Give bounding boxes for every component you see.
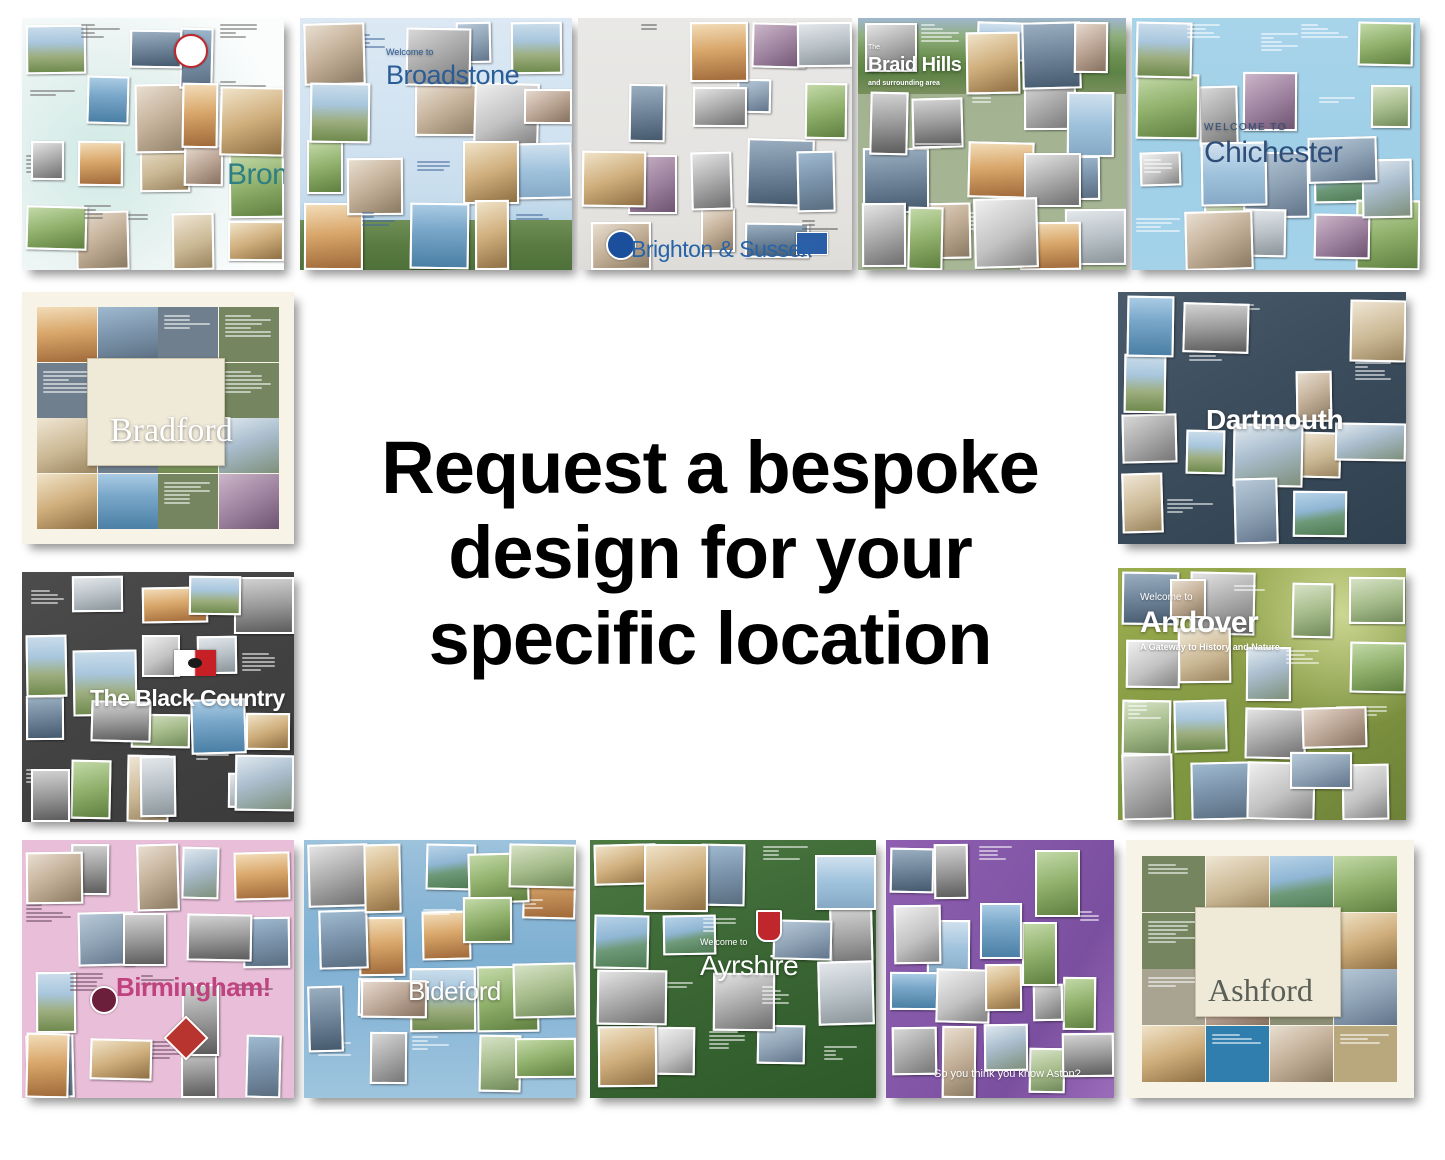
- poster-photo: [512, 962, 576, 1018]
- poster-photo: [475, 200, 509, 270]
- poster-card-ayrshire[interactable]: Welcome toAyrshire: [590, 840, 876, 1098]
- poster-photo: [690, 151, 733, 210]
- poster-canvas: Ashford: [1126, 840, 1414, 1098]
- page-headline: Request a bespoke design for your specif…: [330, 408, 1090, 698]
- poster-photo: [973, 197, 1039, 269]
- poster-photo: [246, 713, 290, 750]
- poster-photo: [70, 760, 111, 820]
- poster-card-bideford[interactable]: Bideford: [304, 840, 576, 1098]
- poster-caption-block: [921, 22, 961, 45]
- poster-photo: [1184, 210, 1254, 270]
- poster-photo: [187, 913, 253, 961]
- poster-text-block: [1334, 1026, 1397, 1082]
- headline-line-3: specific location: [429, 596, 992, 681]
- poster-canvas: TheBraid Hillsand surrounding area: [858, 18, 1126, 270]
- poster-photo: [184, 145, 223, 186]
- poster-photo: [182, 83, 219, 149]
- poster-photo: [1270, 856, 1333, 912]
- poster-card-bromsgrove[interactable]: Bromsgrove: [22, 18, 284, 270]
- poster-caption-block: [763, 844, 810, 869]
- poster-caption-block: [196, 752, 230, 777]
- poster-caption-block: [362, 210, 396, 230]
- poster-canvas: Dartmouth: [1118, 292, 1406, 544]
- poster-caption-block: [1167, 497, 1215, 516]
- poster-photo: [1349, 300, 1406, 363]
- poster-photo: [515, 1038, 576, 1078]
- poster-caption-block: [641, 22, 687, 47]
- poster-title: The Black Country: [90, 685, 285, 712]
- poster-photo: [980, 903, 1022, 959]
- poster-card-ashford[interactable]: Ashford: [1126, 840, 1414, 1098]
- poster-photo: [463, 141, 519, 204]
- poster-canvas: Welcome toAyrshire: [590, 840, 876, 1098]
- poster-photo: [189, 576, 241, 616]
- black-country-flag-icon: [174, 650, 216, 676]
- poster-photo: [656, 1027, 696, 1075]
- poster-title: Brighton & Sussex: [631, 236, 812, 263]
- poster-photo: [1121, 413, 1177, 463]
- poster-text-block: [158, 307, 218, 362]
- poster-photo: [1022, 922, 1057, 986]
- poster-photo: [307, 843, 369, 907]
- poster-caption-block: [31, 588, 65, 607]
- poster-text-block: [158, 474, 218, 529]
- poster-title: Bradford: [110, 412, 233, 450]
- poster-photo: [26, 696, 64, 740]
- poster-photo: [1124, 354, 1167, 414]
- poster-photo: [140, 756, 177, 817]
- poster-card-chichester[interactable]: WELCOME TOChichester: [1132, 18, 1420, 270]
- poster-photo: [234, 577, 294, 634]
- poster-caption-block: [1261, 31, 1300, 62]
- poster-card-black-country[interactable]: The Black Country: [22, 572, 294, 822]
- ayrshire-crest-icon: [756, 910, 782, 942]
- poster-photo: [1246, 647, 1291, 701]
- poster-card-broadstone[interactable]: Welcome toBroadstone: [300, 18, 572, 270]
- poster-caption-block: [81, 22, 122, 48]
- poster-photo: [1291, 583, 1333, 639]
- poster-photo: [894, 905, 942, 965]
- poster-photo: [31, 141, 64, 180]
- poster-photo: [235, 755, 294, 812]
- poster-photo: [1293, 491, 1347, 538]
- poster-photo: [1127, 296, 1175, 358]
- poster-photo: [942, 1026, 977, 1098]
- poster-photo: [219, 86, 284, 156]
- poster-photo: [644, 844, 708, 912]
- poster-photo: [796, 151, 835, 213]
- poster-caption-block: [516, 212, 550, 242]
- poster-photo: [1350, 642, 1406, 694]
- poster-photo: [245, 1035, 282, 1098]
- poster-caption-block: [1080, 909, 1114, 942]
- poster-photo: [78, 141, 123, 186]
- poster-photo: [1349, 577, 1405, 624]
- poster-photo: [25, 1033, 69, 1098]
- poster-photo: [31, 769, 70, 822]
- poster-photo: [1121, 753, 1173, 820]
- poster-photo: [1186, 430, 1226, 475]
- poster-photo: [629, 84, 666, 143]
- poster-subtitle: Welcome to: [700, 937, 747, 947]
- poster-caption-block: [762, 984, 796, 1007]
- poster-photo: [805, 83, 848, 140]
- poster-text-block: [1142, 856, 1205, 912]
- poster-title: Birmingham!: [116, 972, 271, 1003]
- poster-caption-block: [915, 141, 963, 163]
- poster-caption-block: [423, 907, 457, 933]
- poster-photo: [1190, 761, 1253, 820]
- poster-caption-block: [84, 203, 118, 238]
- poster-canvas: Welcome toBroadstone: [300, 18, 572, 270]
- poster-photo: [37, 474, 97, 529]
- poster-caption-block: [30, 88, 77, 120]
- poster-subtitle: So you think you know Aston?: [934, 1068, 1081, 1080]
- bromsgrove-roundel-icon: [174, 34, 208, 68]
- poster-photo: [1314, 214, 1371, 260]
- poster-photo: [690, 22, 748, 82]
- poster-canvas: Bradford: [22, 292, 294, 544]
- poster-photo: [1371, 85, 1410, 128]
- poster-photo: [89, 1038, 152, 1081]
- poster-caption-block: [26, 902, 73, 931]
- poster-photo: [25, 635, 67, 698]
- poster-caption-block: [1286, 648, 1320, 680]
- poster-photo: [892, 1027, 938, 1076]
- poster-caption-block: [1187, 22, 1221, 40]
- poster-text-block: [1206, 1026, 1269, 1082]
- poster-photo: [307, 986, 344, 1053]
- poster-photo: [363, 844, 401, 914]
- poster-photo: [1334, 969, 1397, 1025]
- poster-photo: [370, 1032, 407, 1084]
- poster-photo: [890, 848, 935, 894]
- poster-photo: [233, 851, 290, 900]
- poster-canvas: Welcome toAndoverA Gateway to History an…: [1118, 568, 1406, 820]
- poster-photo: [598, 1026, 657, 1087]
- poster-card-birmingham[interactable]: Birmingham!: [22, 840, 294, 1098]
- poster-photo: [1021, 21, 1082, 89]
- poster-photo: [934, 844, 969, 899]
- poster-photo: [1290, 752, 1352, 789]
- poster-photo: [307, 140, 343, 194]
- poster-caption-block: [220, 22, 268, 56]
- poster-photo: [1233, 477, 1279, 544]
- poster-canvas: Bromsgrove: [22, 18, 284, 270]
- poster-photo: [25, 205, 87, 251]
- poster-photo: [1142, 1026, 1205, 1082]
- poster-caption-block: [1189, 353, 1223, 382]
- poster-photo: [815, 855, 876, 910]
- poster-photo: [26, 25, 87, 75]
- poster-photo: [1074, 22, 1108, 73]
- poster-photo: [1121, 472, 1164, 533]
- poster-title: Bideford: [408, 976, 501, 1007]
- poster-subtitle: Welcome to: [1140, 592, 1193, 603]
- poster-tagline: and surrounding area: [868, 80, 940, 87]
- poster-card-bradford[interactable]: Bradford: [22, 292, 294, 544]
- poster-canvas: Birmingham!: [22, 840, 294, 1098]
- poster-subtitle: The: [868, 44, 880, 51]
- poster-photo: [935, 968, 990, 1023]
- headline-line-2: design for your: [448, 510, 972, 595]
- poster-canvas: The Black Country: [22, 572, 294, 822]
- poster-photo: [1270, 1026, 1333, 1082]
- poster-caption-block: [128, 212, 164, 242]
- poster-photo: [593, 914, 649, 969]
- poster-photo: [310, 83, 371, 144]
- poster-photo: [582, 151, 647, 208]
- poster-photo: [597, 970, 668, 1026]
- poster-subtitle: WELCOME TO: [1204, 122, 1287, 133]
- poster-photo: [72, 576, 123, 612]
- poster-caption-block: [703, 916, 737, 953]
- poster-photo: [98, 474, 158, 529]
- poster-title: Dartmouth: [1206, 404, 1343, 436]
- poster-photo: [415, 84, 482, 136]
- poster-caption-block: [824, 1044, 858, 1066]
- poster-photo: [817, 960, 875, 1025]
- poster-caption-block: [417, 159, 451, 188]
- poster-photo: [172, 213, 215, 270]
- poster-text-block: [219, 363, 279, 418]
- poster-gallery: BromsgroveWelcome toBroadstoneBrighton &…: [0, 0, 1445, 1160]
- poster-photo: [984, 1024, 1028, 1071]
- poster-photo: [303, 22, 366, 86]
- poster-card-brighton-sussex[interactable]: Brighton & Sussex: [578, 18, 852, 270]
- poster-photo: [1301, 706, 1367, 749]
- birmingham-badge-icon: [90, 986, 118, 1014]
- poster-title: Andover: [1140, 606, 1258, 640]
- poster-subtitle: Welcome to: [386, 47, 433, 57]
- poster-caption-block: [972, 91, 1006, 117]
- poster-caption-block: [1301, 22, 1350, 47]
- poster-title: Bromsgrove: [227, 158, 284, 192]
- poster-text-block: [219, 307, 279, 362]
- poster-photo: [1136, 74, 1200, 140]
- poster-photo: [463, 897, 512, 943]
- poster-card-aston[interactable]: So you think you know Aston?: [886, 840, 1114, 1098]
- poster-photo: [410, 203, 470, 270]
- poster-photo: [1335, 422, 1406, 461]
- poster-photo: [1067, 92, 1114, 157]
- poster-photo: [524, 89, 572, 124]
- poster-photo: [862, 203, 906, 267]
- poster-title: Ashford: [1208, 972, 1313, 1009]
- headline-line-1: Request a bespoke: [381, 425, 1038, 510]
- poster-photo: [86, 75, 129, 124]
- poster-caption-block: [1144, 157, 1195, 178]
- poster-card-andover[interactable]: Welcome toAndoverA Gateway to History an…: [1118, 568, 1406, 820]
- poster-caption-block: [1355, 360, 1393, 389]
- poster-caption-block: [979, 844, 1013, 862]
- poster-photo: [123, 913, 166, 966]
- poster-photo: [966, 32, 1021, 95]
- poster-caption-block: [1128, 699, 1162, 720]
- poster-photo: [1334, 913, 1397, 969]
- poster-caption-block: [412, 1034, 459, 1058]
- poster-title: Broadstone: [386, 60, 519, 91]
- poster-caption-block: [242, 651, 276, 673]
- poster-photo: [26, 852, 84, 905]
- poster-photo: [1033, 984, 1064, 1021]
- poster-photo: [228, 221, 284, 261]
- poster-card-braid-hills[interactable]: TheBraid Hillsand surrounding area: [858, 18, 1126, 270]
- poster-photo: [136, 843, 180, 911]
- poster-canvas: WELCOME TOChichester: [1132, 18, 1420, 270]
- poster-photo: [1182, 302, 1249, 354]
- poster-photo: [985, 964, 1022, 1011]
- poster-caption-block: [1319, 95, 1356, 131]
- poster-photo: [1063, 977, 1097, 1030]
- poster-photo: [219, 474, 279, 529]
- poster-title: Ayrshire: [700, 950, 798, 982]
- poster-photo: [181, 847, 219, 900]
- poster-photo: [318, 909, 369, 969]
- poster-photo: [693, 87, 747, 127]
- poster-canvas: Bideford: [304, 840, 576, 1098]
- poster-photo: [1206, 856, 1269, 912]
- poster-photo: [1358, 22, 1414, 67]
- poster-photo: [347, 158, 403, 215]
- poster-photo: [509, 843, 576, 888]
- poster-title: Braid Hills: [868, 54, 961, 77]
- poster-title: Chichester: [1204, 136, 1342, 170]
- poster-canvas: So you think you know Aston?: [886, 840, 1114, 1098]
- poster-photo: [1334, 856, 1397, 912]
- poster-tagline: A Gateway to History and Nature: [1140, 642, 1280, 652]
- poster-caption-block: [1136, 216, 1182, 234]
- poster-photo: [1173, 699, 1227, 752]
- poster-photo: [907, 207, 943, 270]
- poster-photo: [37, 307, 97, 362]
- poster-caption-block: [709, 1029, 746, 1065]
- poster-photo: [98, 307, 158, 362]
- poster-photo: [797, 22, 852, 68]
- poster-canvas: Brighton & Sussex: [578, 18, 852, 270]
- poster-card-dartmouth[interactable]: Dartmouth: [1118, 292, 1406, 544]
- poster-photo: [869, 92, 908, 156]
- poster-photo: [1035, 850, 1080, 917]
- poster-photo: [1135, 21, 1192, 78]
